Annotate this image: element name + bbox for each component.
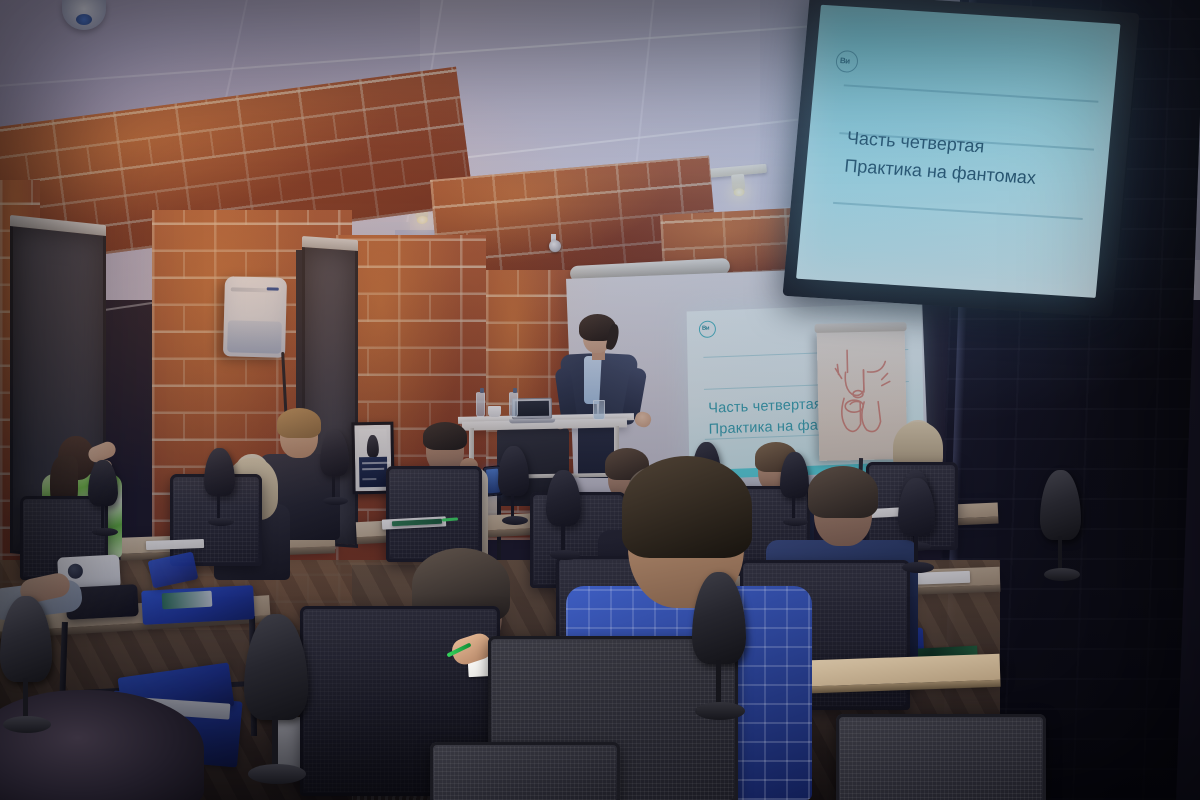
air-purifier-led bbox=[267, 287, 279, 290]
desk-lamp[interactable] bbox=[204, 448, 238, 526]
desk-lamp[interactable] bbox=[498, 446, 532, 526]
attendee-hair bbox=[808, 466, 878, 518]
security-camera-icon bbox=[549, 240, 561, 252]
poster-lamp-icon bbox=[367, 435, 379, 457]
desk-lamp[interactable] bbox=[692, 572, 750, 724]
desk-lamp[interactable] bbox=[320, 430, 352, 506]
water-bottle bbox=[509, 392, 518, 417]
attendee-hair bbox=[277, 408, 321, 438]
green-label bbox=[162, 591, 213, 610]
chair[interactable] bbox=[430, 742, 620, 800]
wall-mounted-tv: Bи Часть четвертая Практика на фантомах bbox=[782, 0, 1139, 317]
desk-lamp[interactable] bbox=[244, 614, 312, 786]
desk-lamp[interactable] bbox=[88, 460, 122, 536]
seminar-room-photo: Bи Часть четвертая Практика на фантомах bbox=[0, 0, 1200, 800]
wall-air-purifier bbox=[223, 276, 287, 358]
air-purifier-panel bbox=[227, 320, 282, 353]
water-bottle bbox=[476, 392, 485, 417]
coffee-mug bbox=[488, 406, 501, 417]
water-glass bbox=[593, 400, 605, 420]
tv-slide-logo-icon: Bи bbox=[835, 50, 859, 73]
desk-lamp[interactable] bbox=[1040, 470, 1084, 586]
desk-lamp[interactable] bbox=[898, 478, 938, 576]
poster-text-line bbox=[362, 468, 384, 470]
slide-logo-text: Bи bbox=[702, 325, 709, 331]
track-spotlight bbox=[731, 174, 746, 193]
attendee-hair bbox=[423, 422, 467, 450]
desk-lamp[interactable] bbox=[0, 596, 56, 736]
poster-text-panel bbox=[359, 457, 388, 487]
tv-slide-title: Часть четвертая Практика на фантомах bbox=[843, 125, 1040, 193]
chair[interactable] bbox=[836, 714, 1046, 800]
laptop-base bbox=[509, 419, 555, 424]
attendee-hair bbox=[622, 456, 752, 558]
tv-slide-rule bbox=[833, 202, 1083, 220]
tv-slide-logo-text: Bи bbox=[840, 56, 851, 66]
poster-text-line bbox=[362, 478, 376, 480]
flipchart-clamp bbox=[815, 322, 907, 333]
device-knob bbox=[68, 563, 84, 579]
tv-slide-rule bbox=[844, 84, 1099, 102]
slide-logo-icon: Bи bbox=[699, 320, 716, 338]
tv-screen: Bи Часть четвертая Практика на фантомах bbox=[796, 5, 1120, 298]
poster-text-line bbox=[362, 462, 390, 464]
